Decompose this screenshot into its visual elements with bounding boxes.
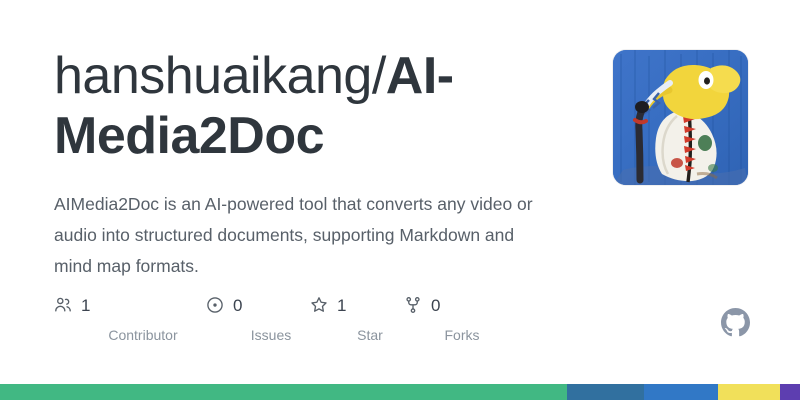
stat-contributors-value: 1 — [81, 297, 90, 314]
repository-card: hanshuaikang/AI-Media2Doc AIMedia2Doc is… — [0, 0, 800, 400]
language-segment-5 — [780, 384, 800, 400]
stat-issues-row: 0 — [206, 294, 310, 316]
stat-issues[interactable]: 0 Issues — [206, 294, 310, 343]
language-segment-2 — [567, 384, 644, 400]
language-segment-3 — [644, 384, 718, 400]
avatar[interactable] — [613, 50, 748, 185]
github-mark-icon — [721, 308, 750, 337]
repository-owner[interactable]: hanshuaikang/ — [54, 47, 386, 105]
stat-stars-label: Star — [310, 327, 404, 343]
stat-contributors[interactable]: 1 Contributor — [54, 294, 206, 343]
stat-contributors-label: Contributor — [54, 327, 206, 343]
language-segment-1 — [0, 384, 567, 400]
stat-issues-label: Issues — [206, 327, 310, 343]
issue-opened-icon — [206, 296, 224, 314]
stat-stars-row: 1 — [310, 294, 404, 316]
fork-icon — [404, 296, 422, 314]
stat-forks-label: Forks — [404, 327, 494, 343]
page-title: hanshuaikang/AI-Media2Doc — [54, 46, 574, 167]
language-segment-4 — [718, 384, 780, 400]
people-icon — [54, 296, 72, 314]
stat-stars-value: 1 — [337, 297, 346, 314]
stat-issues-value: 0 — [233, 297, 242, 314]
stat-forks-row: 0 — [404, 294, 494, 316]
stat-contributors-row: 1 — [54, 294, 206, 316]
repository-description: AIMedia2Doc is an AI-powered tool that c… — [54, 189, 554, 282]
language-bar — [0, 384, 800, 400]
stat-forks[interactable]: 0 Forks — [404, 294, 494, 343]
stat-stars[interactable]: 1 Star — [310, 294, 404, 343]
stat-forks-value: 0 — [431, 297, 440, 314]
repository-info: hanshuaikang/AI-Media2Doc AIMedia2Doc is… — [54, 46, 574, 343]
star-icon — [310, 296, 328, 314]
repository-stats: 1 Contributor 0 Issues — [54, 294, 574, 343]
